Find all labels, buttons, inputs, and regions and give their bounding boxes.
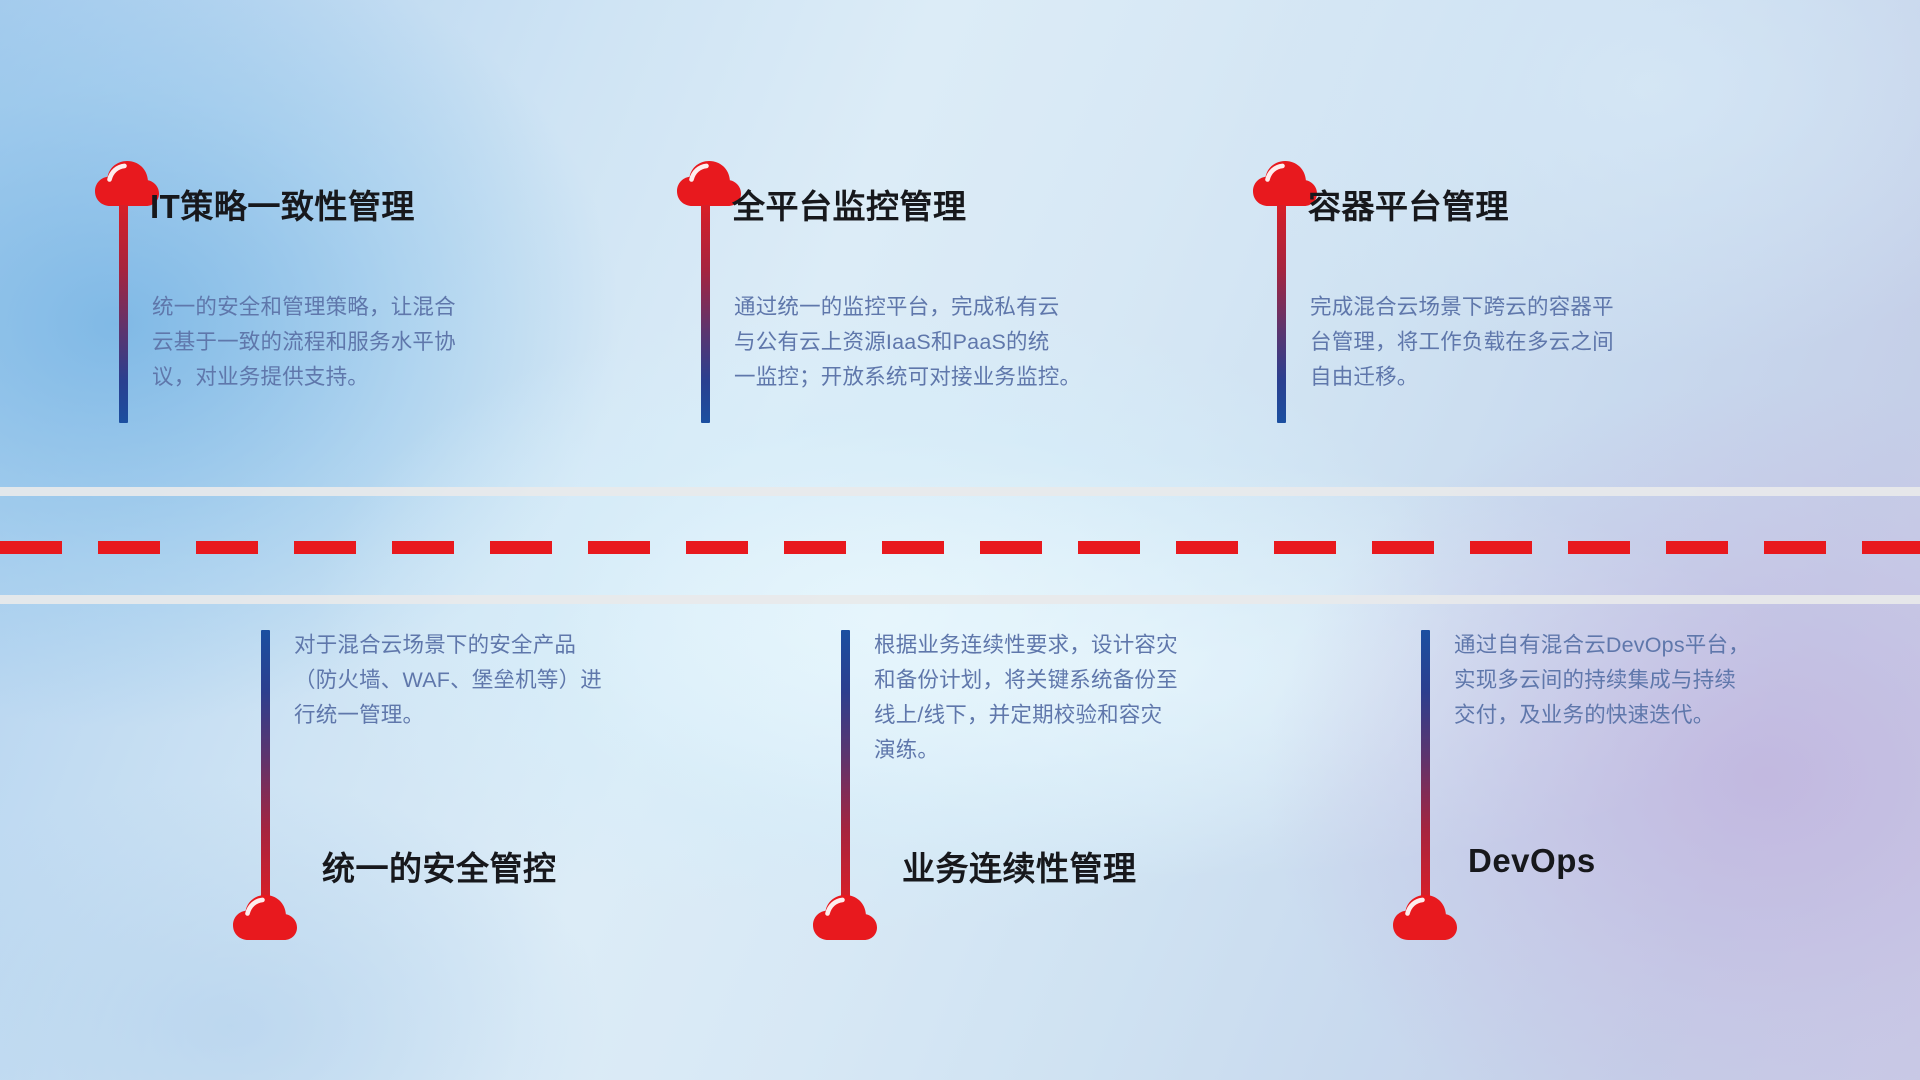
description-line: 与公有云上资源IaaS和PaaS的统 [734,325,1099,360]
cloud-icon [232,894,298,942]
connector-stem [701,205,710,423]
description-line: 交付，及业务的快速迭代。 [1454,698,1819,733]
card-description: 对于混合云场景下的安全产品 （防火墙、WAF、堡垒机等）进 行统一管理。 [294,628,659,733]
description-line: 一监控；开放系统可对接业务监控。 [734,360,1099,395]
divider-dashed-line [0,541,1920,554]
cloud-icon [1392,894,1458,942]
card-description: 通过自有混合云DevOps平台， 实现多云间的持续集成与持续 交付，及业务的快速… [1454,628,1819,733]
description-line: 统一的安全和管理策略，让混合 [152,290,517,325]
divider-rail-bottom [0,595,1920,604]
description-line: 台管理，将工作负载在多云之间 [1310,325,1675,360]
cloud-icon [812,894,878,942]
description-line: 线上/线下，并定期校验和容灾 [874,698,1239,733]
card-description: 统一的安全和管理策略，让混合 云基于一致的流程和服务水平协 议，对业务提供支持。 [152,290,517,395]
description-line: 和备份计划，将关键系统备份至 [874,663,1239,698]
card-title: 业务连续性管理 [902,842,1137,890]
card-title: 容器平台管理 [1308,180,1509,228]
connector-stem [1277,205,1286,423]
infographic-canvas: IT策略一致性管理 统一的安全和管理策略，让混合 云基于一致的流程和服务水平协 … [0,0,1920,1080]
connector-stem [119,205,128,423]
card-title: 全平台监控管理 [732,180,967,228]
description-line: 完成混合云场景下跨云的容器平 [1310,290,1675,325]
connector-stem [261,630,270,900]
description-line: （防火墙、WAF、堡垒机等）进 [294,663,659,698]
description-line: 自由迁移。 [1310,360,1675,395]
description-line: 对于混合云场景下的安全产品 [294,628,659,663]
description-line: 云基于一致的流程和服务水平协 [152,325,517,360]
description-line: 行统一管理。 [294,698,659,733]
connector-stem [1421,630,1430,900]
card-description: 根据业务连续性要求，设计容灾 和备份计划，将关键系统备份至 线上/线下，并定期校… [874,628,1239,768]
description-line: 通过统一的监控平台，完成私有云 [734,290,1099,325]
card-description: 完成混合云场景下跨云的容器平 台管理，将工作负载在多云之间 自由迁移。 [1310,290,1675,395]
description-line: 实现多云间的持续集成与持续 [1454,663,1819,698]
card-title: IT策略一致性管理 [150,180,415,228]
description-line: 议，对业务提供支持。 [152,360,517,395]
description-line: 根据业务连续性要求，设计容灾 [874,628,1239,663]
description-line: 通过自有混合云DevOps平台， [1454,628,1819,663]
card-description: 通过统一的监控平台，完成私有云 与公有云上资源IaaS和PaaS的统 一监控；开… [734,290,1099,395]
description-line: 演练。 [874,733,1239,768]
card-title: DevOps [1468,842,1596,880]
divider-rail-top [0,487,1920,496]
card-title: 统一的安全管控 [322,842,557,890]
connector-stem [841,630,850,900]
